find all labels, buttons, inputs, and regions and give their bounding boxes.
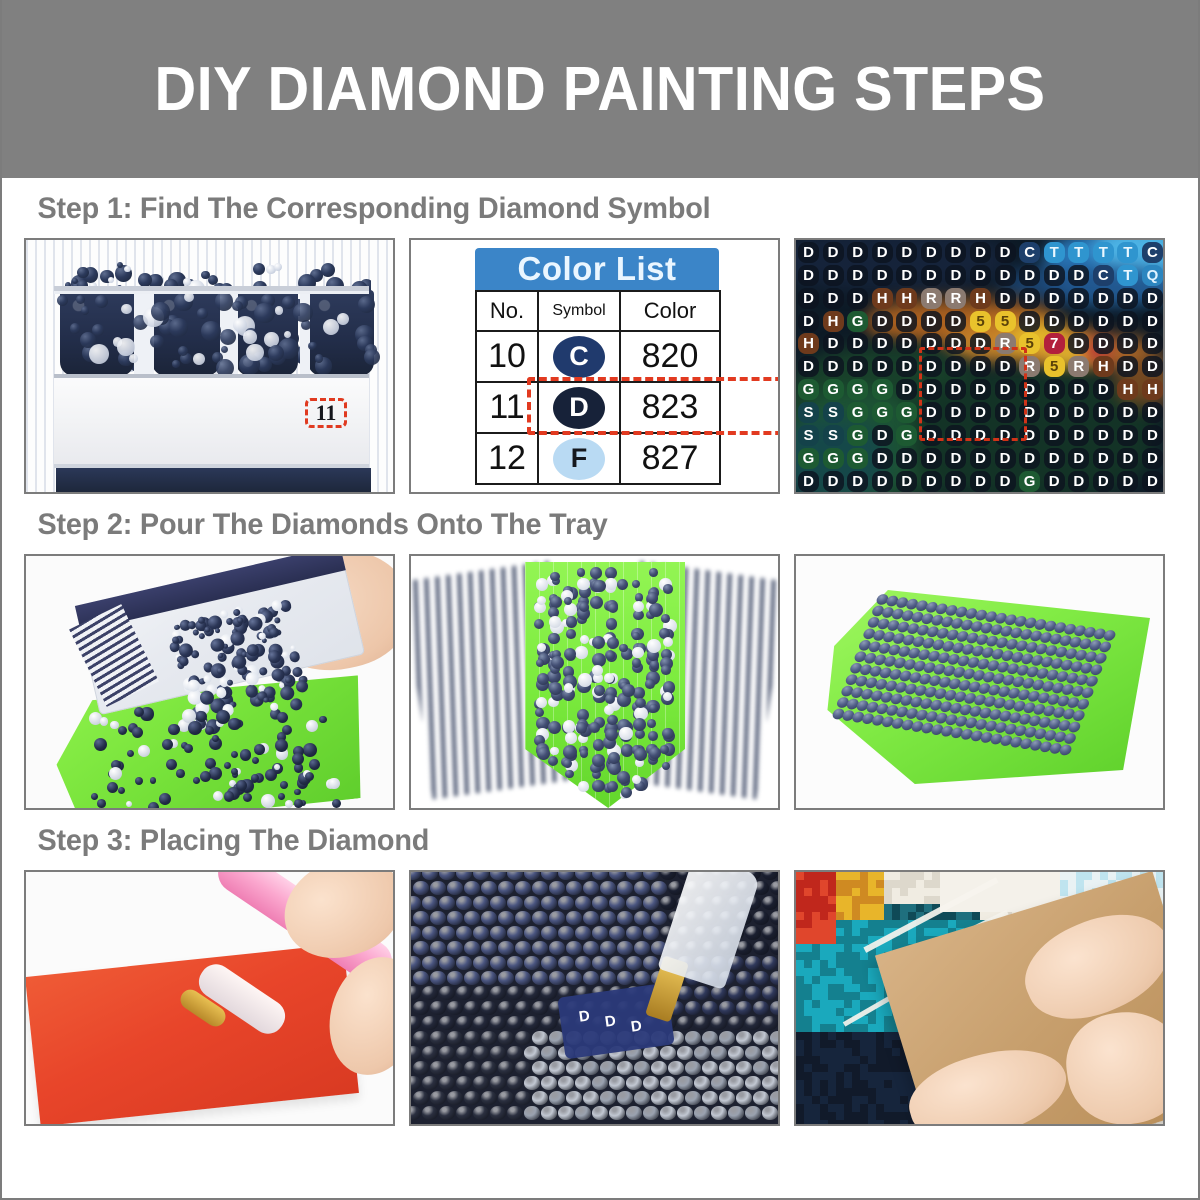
placed-diamond: [481, 881, 497, 895]
artwork-pixel: [836, 872, 844, 880]
artwork-pixel: [1052, 872, 1060, 880]
diamond-bead: [563, 720, 575, 732]
diamond-bead: [107, 782, 118, 793]
tray-shaking-photo: [409, 554, 780, 810]
grid-symbol-cell: D: [1142, 471, 1163, 492]
placed-diamond: [532, 1061, 548, 1075]
artwork-pixel: [964, 880, 972, 888]
artwork-pixel: [884, 1120, 892, 1124]
grid-symbol-cell: D: [970, 265, 991, 286]
placed-diamond: [490, 896, 506, 910]
artwork-pixel: [868, 1080, 876, 1088]
artwork-pixel: [860, 952, 868, 960]
placed-diamond: [736, 1091, 752, 1105]
placed-diamond: [464, 1061, 480, 1075]
grid-symbol-cell: D: [1093, 448, 1114, 469]
diamond-bead: [134, 707, 144, 717]
placed-diamond: [745, 1046, 761, 1060]
artwork-pixel: [860, 896, 868, 904]
artwork-pixel: [804, 984, 812, 992]
artwork-pixel: [916, 928, 924, 936]
placed-diamond: [473, 1106, 489, 1120]
grid-symbol-cell: D: [872, 448, 893, 469]
artwork-pixel: [860, 1024, 868, 1032]
grid-symbol-cell: G: [847, 425, 868, 446]
artwork-pixel: [828, 1104, 836, 1112]
artwork-pixel: [844, 872, 852, 880]
grid-symbol-cell: T: [1117, 265, 1138, 286]
placed-diamond: [753, 911, 769, 925]
diamond-bead: [617, 771, 630, 784]
placed-diamond: [447, 1031, 463, 1045]
artwork-pixel: [852, 992, 860, 1000]
placed-diamond: [762, 1046, 778, 1060]
artwork-pixel: [1028, 872, 1036, 880]
placed-diamond: [558, 1106, 574, 1120]
artwork-pixel: [1084, 880, 1092, 888]
placed-diamond: [685, 1031, 701, 1045]
artwork-pixel: [972, 904, 980, 912]
artwork-pixel: [804, 1040, 812, 1048]
artwork-pixel: [836, 888, 844, 896]
placed-diamond: [685, 1091, 701, 1105]
artwork-pixel: [932, 872, 940, 880]
artwork-pixel: [852, 912, 860, 920]
artwork-pixel: [884, 1048, 892, 1056]
grid-symbol-cell: D: [1044, 402, 1065, 423]
placed-diamond: [651, 1091, 667, 1105]
artwork-pixel: [868, 1048, 876, 1056]
artwork-pixel: [876, 904, 884, 912]
placed-diamond: [411, 926, 421, 940]
placed-diamond: [541, 896, 557, 910]
artwork-pixel: [908, 896, 916, 904]
placed-diamond: [490, 1016, 506, 1030]
artwork-pixel: [892, 1120, 900, 1124]
highlight-area-outline: [919, 347, 1027, 441]
placed-diamond: [609, 956, 625, 970]
diamond-bead: [274, 764, 280, 770]
diamond-bead: [277, 712, 288, 723]
placed-diamond: [600, 881, 616, 895]
artwork-pixel: [996, 896, 1004, 904]
diamond-bead: [632, 632, 640, 640]
grid-symbol-cell: H: [970, 288, 991, 309]
artwork-pixel: [804, 1120, 812, 1124]
cell-color-code: 823: [620, 382, 720, 433]
artwork-pixel: [820, 1056, 828, 1064]
diamond-bead: [124, 266, 130, 272]
placed-diamond: [507, 986, 523, 1000]
artwork-pixel: [940, 920, 948, 928]
grid-symbol-cell: S: [823, 402, 844, 423]
artwork-pixel: [876, 880, 884, 888]
grid-symbol-cell: 7: [1044, 333, 1065, 354]
artwork-pixel: [804, 936, 812, 944]
diamond-bead: [138, 745, 150, 757]
placed-diamond: [515, 1091, 531, 1105]
placed-diamond: [507, 926, 523, 940]
diamond-bead: [259, 667, 268, 676]
diamond-bead: [121, 304, 132, 315]
column-header: No.: [476, 291, 538, 331]
artwork-pixel: [836, 944, 844, 952]
placed-diamond: [626, 956, 642, 970]
artwork-pixel: [812, 976, 820, 984]
placed-diamond: [728, 1076, 744, 1090]
artwork-pixel: [884, 1064, 892, 1072]
artwork-pixel: [812, 904, 820, 912]
grid-symbol-cell: G: [823, 448, 844, 469]
grid-symbol-cell: D: [798, 242, 819, 263]
placed-diamond: [411, 986, 421, 1000]
artwork-pixel: [860, 928, 868, 936]
placed-diamond: [507, 896, 523, 910]
placed-diamond: [566, 941, 582, 955]
placed-diamond: [617, 911, 633, 925]
grid-symbol-cell: D: [1044, 265, 1065, 286]
grid-symbol-cell: D: [896, 265, 917, 286]
placed-diamond: [558, 896, 574, 910]
grid-symbol-cell: D: [847, 333, 868, 354]
artwork-pixel: [804, 1088, 812, 1096]
grid-symbol-cell: D: [896, 379, 917, 400]
grid-symbol-cell: R: [921, 288, 942, 309]
artwork-pixel: [876, 1104, 884, 1112]
placed-diamond: [728, 1046, 744, 1060]
artwork-pixel: [804, 904, 812, 912]
diamond-bead: [294, 799, 303, 808]
grid-symbol-cell: S: [823, 425, 844, 446]
diamond-bead: [281, 651, 289, 659]
diamond-bead: [282, 296, 295, 309]
diamond-bead: [619, 727, 632, 740]
artwork-pixel: [804, 1008, 812, 1016]
placed-diamond: [515, 941, 531, 955]
placed-diamond: [447, 911, 463, 925]
artwork-pixel: [796, 1008, 804, 1016]
placed-diamond: [583, 971, 599, 985]
diamond-bead: [604, 705, 614, 715]
artwork-pixel: [828, 1112, 836, 1120]
placed-diamond: [753, 1091, 769, 1105]
placed-diamond: [711, 1076, 727, 1090]
grid-symbol-cell: D: [798, 356, 819, 377]
artwork-pixel: [876, 1032, 884, 1040]
grid-symbol-cell: D: [872, 425, 893, 446]
artwork-pixel: [932, 928, 940, 936]
artwork-pixel: [868, 1104, 876, 1112]
placed-diamond: [422, 986, 438, 1000]
placed-diamond: [413, 881, 429, 895]
placed-diamond: [524, 1046, 540, 1060]
placed-diamond: [464, 1091, 480, 1105]
artwork-pixel: [892, 1064, 900, 1072]
diamond-bead: [254, 303, 274, 323]
artwork-pixel: [884, 1032, 892, 1040]
artwork-pixel: [876, 1064, 884, 1072]
placed-diamond: [753, 1061, 769, 1075]
diamond-bead: [309, 342, 317, 350]
artwork-pixel: [924, 896, 932, 904]
step-3-section: Step 3: Placing The Diamond: [24, 810, 1176, 1126]
placed-diamond: [566, 1091, 582, 1105]
artwork-pixel: [796, 880, 804, 888]
pressing-with-notebook-photo: Note Book: [794, 870, 1165, 1126]
placed-diamond: [575, 1106, 591, 1120]
artwork-pixel: [868, 912, 876, 920]
placed-diamond: [411, 1106, 421, 1120]
grid-symbol-cell: D: [1093, 311, 1114, 332]
artwork-pixel: [796, 904, 804, 912]
placed-diamond: [694, 1016, 710, 1030]
placed-diamond: [456, 1046, 472, 1060]
grid-symbol-cell: D: [945, 448, 966, 469]
diamond-bead: [537, 596, 546, 605]
artwork-pixel: [1004, 880, 1012, 888]
artwork-pixel: [812, 1064, 820, 1072]
artwork-pixel: [804, 992, 812, 1000]
canvas-symbol-letter: D: [604, 1012, 617, 1030]
artwork-pixel: [836, 1032, 844, 1040]
cell-symbol: D: [538, 382, 620, 433]
artwork-pixel: [1068, 872, 1076, 880]
artwork-pixel: [812, 1024, 820, 1032]
grid-symbol-cell: D: [798, 471, 819, 492]
placed-diamond: [447, 1091, 463, 1105]
artwork-pixel: [1100, 872, 1108, 880]
artwork-pixel: [796, 936, 804, 944]
artwork-pixel: [828, 952, 836, 960]
artwork-pixel: [868, 1064, 876, 1072]
diamond-bead: [550, 747, 559, 756]
grid-symbol-cell: D: [945, 265, 966, 286]
diamond-bead: [109, 767, 122, 780]
diamond-bead: [660, 745, 669, 754]
artwork-pixel: [876, 1096, 884, 1104]
placed-diamond: [498, 941, 514, 955]
grid-symbol-cell: D: [847, 265, 868, 286]
placed-diamond: [668, 1061, 684, 1075]
artwork-pixel: [804, 1112, 812, 1120]
grid-symbol-cell: D: [823, 471, 844, 492]
grid-symbol-cell: H: [872, 288, 893, 309]
diamond-bead: [151, 302, 170, 321]
diamond-bead: [566, 616, 578, 628]
artwork-pixel: [852, 928, 860, 936]
placed-diamond: [745, 1016, 761, 1030]
artwork-pixel: [972, 872, 980, 880]
artwork-pixel: [812, 1040, 820, 1048]
diamond-bead: [306, 720, 318, 732]
grid-symbol-cell: D: [896, 356, 917, 377]
artwork-pixel: [860, 1048, 868, 1056]
placed-diamond: [592, 896, 608, 910]
placed-diamond: [464, 1031, 480, 1045]
cell-symbol: F: [538, 433, 620, 484]
artwork-pixel: [836, 992, 844, 1000]
placed-diamond: [439, 896, 455, 910]
diamond-bead: [91, 793, 98, 800]
artwork-pixel: [812, 944, 820, 952]
artwork-pixel: [828, 904, 836, 912]
artwork-pixel: [956, 880, 964, 888]
placed-diamond: [651, 911, 667, 925]
artwork-pixel: [844, 880, 852, 888]
placed-diamond: [439, 986, 455, 1000]
placed-diamond: [473, 956, 489, 970]
artwork-pixel: [844, 1120, 852, 1124]
grid-symbol-cell: D: [847, 356, 868, 377]
placed-diamond: [609, 926, 625, 940]
placed-diamond: [507, 956, 523, 970]
placed-diamond: [566, 1061, 582, 1075]
artwork-pixel: [852, 1032, 860, 1040]
placed-diamond: [481, 971, 497, 985]
table-row: 11D823: [476, 382, 720, 433]
placed-diamond: [456, 926, 472, 940]
placed-diamond: [456, 1016, 472, 1030]
artwork-pixel: [1020, 880, 1028, 888]
artwork-pixel: [812, 1072, 820, 1080]
artwork-pixel: [812, 1080, 820, 1088]
artwork-pixel: [844, 1008, 852, 1016]
artwork-pixel: [796, 1000, 804, 1008]
artwork-pixel: [852, 920, 860, 928]
placed-diamond: [411, 1046, 421, 1060]
diamond-bead: [246, 344, 263, 361]
placed-diamond: [422, 872, 438, 880]
artwork-pixel: [852, 888, 860, 896]
artwork-pixel: [796, 1096, 804, 1104]
artwork-pixel: [876, 920, 884, 928]
grid-symbol-cell: Q: [1142, 265, 1163, 286]
artwork-pixel: [892, 1096, 900, 1104]
artwork-pixel: [804, 888, 812, 896]
artwork-pixel: [868, 1024, 876, 1032]
diamond-bead: [563, 745, 577, 759]
artwork-pixel: [876, 928, 884, 936]
artwork-pixel: [836, 928, 844, 936]
placed-diamond: [617, 881, 633, 895]
artwork-pixel: [820, 968, 828, 976]
artwork-pixel: [884, 872, 892, 880]
artwork-pixel: [860, 872, 868, 880]
artwork-pixel: [884, 1104, 892, 1112]
grid-symbol-cell: D: [995, 471, 1016, 492]
placed-diamond: [600, 941, 616, 955]
artwork-pixel: [900, 1112, 908, 1120]
artwork-pixel: [828, 960, 836, 968]
artwork-pixel: [868, 1016, 876, 1024]
artwork-pixel: [876, 1056, 884, 1064]
placed-diamond: [524, 896, 540, 910]
grid-symbol-cell: H: [896, 288, 917, 309]
artwork-pixel: [940, 912, 948, 920]
artwork-pixel: [820, 1064, 828, 1072]
artwork-pixel: [820, 1032, 828, 1040]
grid-symbol-cell: 5: [1044, 356, 1065, 377]
step-2-panels: [24, 554, 1176, 810]
artwork-pixel: [828, 1088, 836, 1096]
artwork-pixel: [868, 1112, 876, 1120]
artwork-pixel: [828, 1064, 836, 1072]
pouring-bag-into-tray-photo: [24, 554, 395, 810]
grid-symbol-cell: D: [872, 333, 893, 354]
red-glue-pad: [26, 944, 359, 1124]
placed-diamond: [566, 881, 582, 895]
diamond-bead: [563, 759, 572, 768]
placed-diamond: [447, 881, 463, 895]
grid-symbol-cell: D: [1044, 448, 1065, 469]
artwork-pixel: [844, 1056, 852, 1064]
placed-diamond: [473, 872, 489, 880]
placed-diamond: [422, 1106, 438, 1120]
artwork-pixel: [828, 880, 836, 888]
artwork-pixel: [868, 1072, 876, 1080]
placed-diamond: [753, 941, 769, 955]
canvas-symbol-letter: D: [578, 1007, 591, 1025]
grid-symbol-cell: D: [872, 471, 893, 492]
artwork-pixel: [836, 1064, 844, 1072]
diamond-bead: [201, 271, 210, 280]
artwork-pixel: [988, 888, 996, 896]
grid-symbol-cell: D: [896, 242, 917, 263]
placed-diamond: [634, 971, 650, 985]
artwork-pixel: [796, 1112, 804, 1120]
artwork-pixel: [804, 1032, 812, 1040]
diamond-bead: [577, 578, 589, 590]
placed-diamond: [762, 1106, 778, 1120]
placed-diamond: [600, 971, 616, 985]
diamond-bead: [604, 673, 614, 683]
artwork-pixel: [812, 936, 820, 944]
placed-diamond: [490, 956, 506, 970]
grid-symbol-cell: D: [872, 242, 893, 263]
grid-symbol-cell: C: [1019, 242, 1040, 263]
artwork-pixel: [876, 1016, 884, 1024]
artwork-pixel: [996, 888, 1004, 896]
placed-diamond: [481, 911, 497, 925]
artwork-pixel: [884, 1080, 892, 1088]
placed-diamond: [753, 971, 769, 985]
placed-diamond: [515, 1061, 531, 1075]
placed-diamond: [719, 1061, 735, 1075]
artwork-pixel: [900, 872, 908, 880]
placed-diamond: [592, 1106, 608, 1120]
artwork-pixel: [804, 928, 812, 936]
placed-diamond: [643, 926, 659, 940]
diamond-bead: [132, 727, 143, 738]
artwork-pixel: [924, 880, 932, 888]
placed-diamond: [728, 1106, 744, 1120]
placed-diamond: [677, 1076, 693, 1090]
diamond-bead: [254, 744, 265, 755]
placed-diamond: [592, 956, 608, 970]
artwork-pixel: [908, 888, 916, 896]
artwork-pixel: [796, 944, 804, 952]
placed-diamond: [609, 1106, 625, 1120]
artwork-pixel: [972, 912, 980, 920]
artwork-pixel: [892, 912, 900, 920]
diamond-bead: [70, 323, 81, 334]
diamond-bead: [274, 263, 282, 271]
placed-diamond: [609, 1076, 625, 1090]
placed-diamond: [762, 986, 778, 1000]
placed-diamond: [464, 1001, 480, 1015]
placed-diamond: [634, 881, 650, 895]
artwork-pixel: [1028, 888, 1036, 896]
